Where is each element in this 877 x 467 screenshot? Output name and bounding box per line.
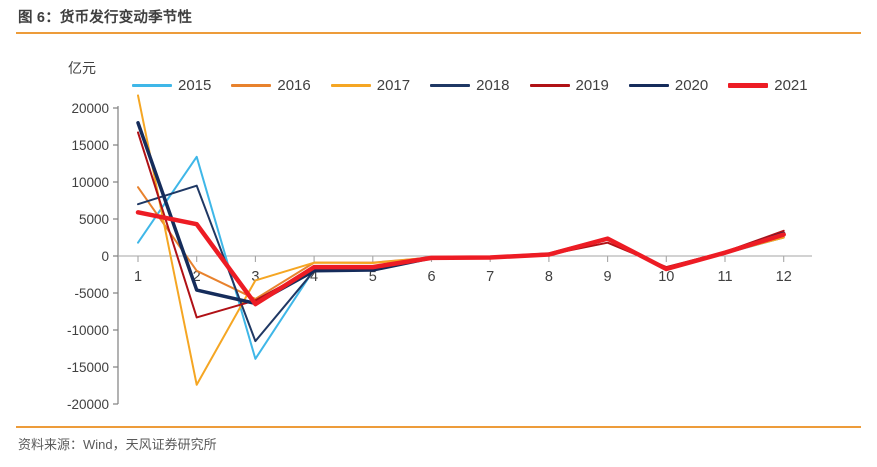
y-axis-tick-label: -5000 (74, 286, 109, 301)
x-axis-tick-label: 12 (776, 269, 792, 285)
y-axis-tick-label: -15000 (67, 360, 109, 375)
y-axis-tick-label: -20000 (67, 397, 109, 412)
x-axis-tick-label: 11 (717, 269, 732, 285)
x-axis-tick-label: 8 (545, 269, 553, 285)
y-axis-tick-label: -10000 (67, 323, 109, 338)
y-axis-tick-label: 15000 (71, 138, 109, 153)
series-line-2016 (138, 187, 784, 299)
y-axis-tick-label: 10000 (71, 175, 109, 190)
y-axis-tick-label: 0 (101, 249, 109, 264)
x-axis-tick-label: 6 (427, 269, 435, 285)
x-axis-tick-label: 7 (486, 269, 494, 285)
source-note: 资料来源：Wind，天风证券研究所 (18, 434, 217, 453)
series-line-2017 (138, 95, 784, 384)
chart-container: 20000150001000050000-5000-10000-15000-20… (0, 0, 877, 420)
x-axis-tick-label: 10 (658, 269, 674, 285)
x-axis-tick-label: 9 (604, 269, 612, 285)
y-axis-tick-label: 20000 (71, 101, 109, 116)
y-axis-tick-label: 5000 (79, 212, 109, 227)
x-axis-tick-label: 3 (251, 269, 259, 285)
line-chart: 20000150001000050000-5000-10000-15000-20… (0, 0, 877, 420)
x-axis-tick-label: 1 (134, 269, 142, 285)
footer-divider (16, 426, 861, 428)
